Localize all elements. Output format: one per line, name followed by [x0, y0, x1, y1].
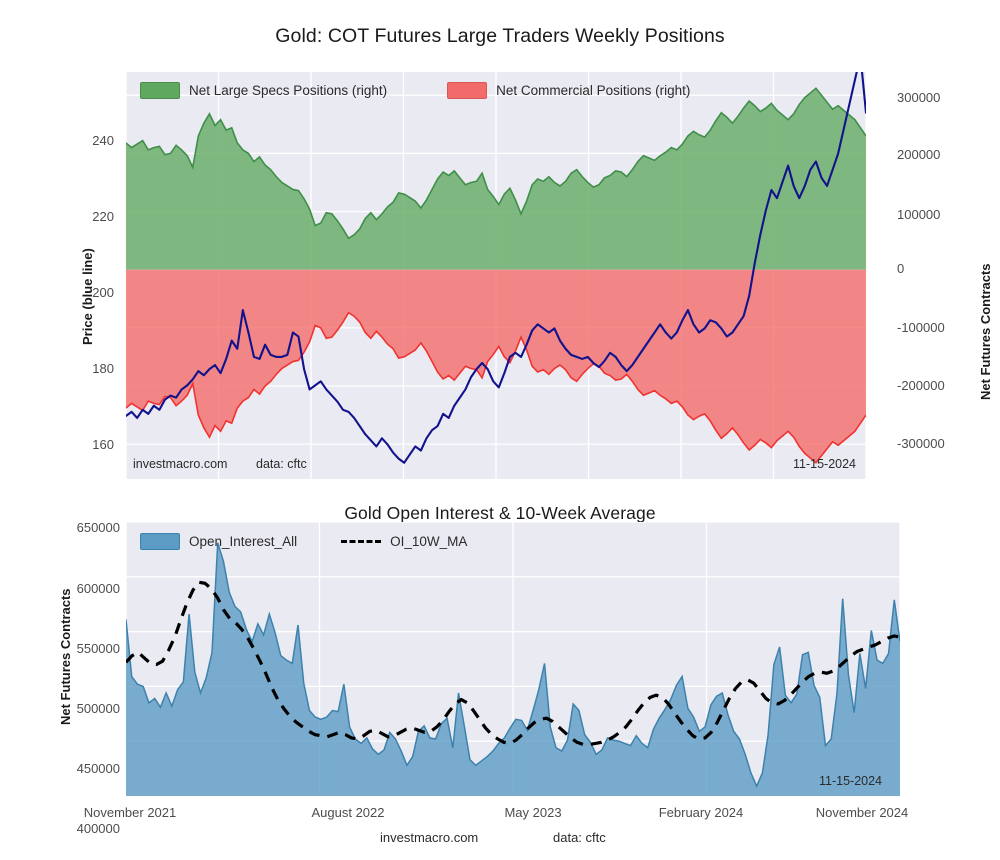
bottom-legend: Open_Interest_All OI_10W_MA: [140, 533, 467, 550]
bottom-chart-title: Gold Open Interest & 10-Week Average: [0, 503, 1000, 524]
top-plot-svg: [126, 72, 866, 479]
bottom-plot-area: 11-15-2024: [126, 522, 900, 796]
bottom-ytick-2: 550000: [20, 641, 120, 656]
legend-label-commercial: Net Commercial Positions (right): [496, 83, 690, 98]
legend-label-specs: Net Large Specs Positions (right): [189, 83, 387, 98]
top-chart-title: Gold: COT Futures Large Traders Weekly P…: [0, 25, 1000, 48]
bottom-xtick-1: August 2022: [286, 805, 410, 820]
top-ytick-left-0: 240: [74, 133, 114, 148]
bottom-ytick-5: 400000: [20, 821, 120, 836]
legend-entry-ma[interactable]: OI_10W_MA: [341, 534, 467, 549]
bottom-ytick-1: 600000: [20, 581, 120, 596]
chart-page: Gold: COT Futures Large Traders Weekly P…: [0, 0, 1000, 860]
top-plot-area: investmacro.com data: cftc 11-15-2024: [126, 72, 866, 479]
bottom-last-date: 11-15-2024: [726, 774, 882, 788]
top-ytick-right-0: 300000: [897, 90, 940, 105]
bottom-xtick-2: May 2023: [483, 805, 583, 820]
legend-dash-ma: [341, 540, 381, 543]
top-right-axis-title: Net Futures Contracts: [978, 263, 993, 400]
legend-label-open-interest: Open_Interest_All: [189, 534, 297, 549]
footer-data: data: cftc: [553, 830, 606, 845]
bottom-xtick-4: November 2024: [792, 805, 932, 820]
top-ytick-right-5: -200000: [897, 378, 945, 393]
bottom-ytick-4: 450000: [20, 761, 120, 776]
top-ytick-left-4: 160: [74, 437, 114, 452]
legend-swatch-specs: [140, 82, 180, 99]
legend-swatch-open-interest: [140, 533, 180, 550]
legend-swatch-commercial: [447, 82, 487, 99]
top-last-date: 11-15-2024: [726, 457, 856, 471]
footer-source: investmacro.com: [380, 830, 478, 845]
top-data-note: data: cftc: [256, 457, 307, 471]
top-ytick-right-2: 100000: [897, 207, 940, 222]
top-ytick-left-3: 180: [74, 361, 114, 376]
bottom-ytick-3: 500000: [20, 701, 120, 716]
top-ytick-right-3: 0: [897, 261, 904, 276]
top-ytick-left-1: 220: [74, 209, 114, 224]
top-ytick-left-2: 200: [74, 285, 114, 300]
legend-entry-commercial[interactable]: Net Commercial Positions (right): [447, 82, 690, 99]
legend-entry-open-interest[interactable]: Open_Interest_All: [140, 533, 297, 550]
bottom-plot-svg: [126, 522, 900, 796]
top-ytick-right-4: -100000: [897, 320, 945, 335]
cot-positions-chart: Gold: COT Futures Large Traders Weekly P…: [0, 0, 1000, 495]
bottom-ytick-0: 650000: [20, 520, 120, 535]
bottom-xtick-0: November 2021: [60, 805, 200, 820]
open-interest-chart: Gold Open Interest & 10-Week Average Net…: [0, 495, 1000, 860]
top-ytick-right-6: -300000: [897, 436, 945, 451]
bottom-xtick-3: February 2024: [637, 805, 765, 820]
legend-label-ma: OI_10W_MA: [390, 534, 467, 549]
top-source-note: investmacro.com: [133, 457, 227, 471]
legend-entry-specs[interactable]: Net Large Specs Positions (right): [140, 82, 387, 99]
top-legend: Net Large Specs Positions (right) Net Co…: [140, 82, 690, 99]
top-ytick-right-1: 200000: [897, 147, 940, 162]
